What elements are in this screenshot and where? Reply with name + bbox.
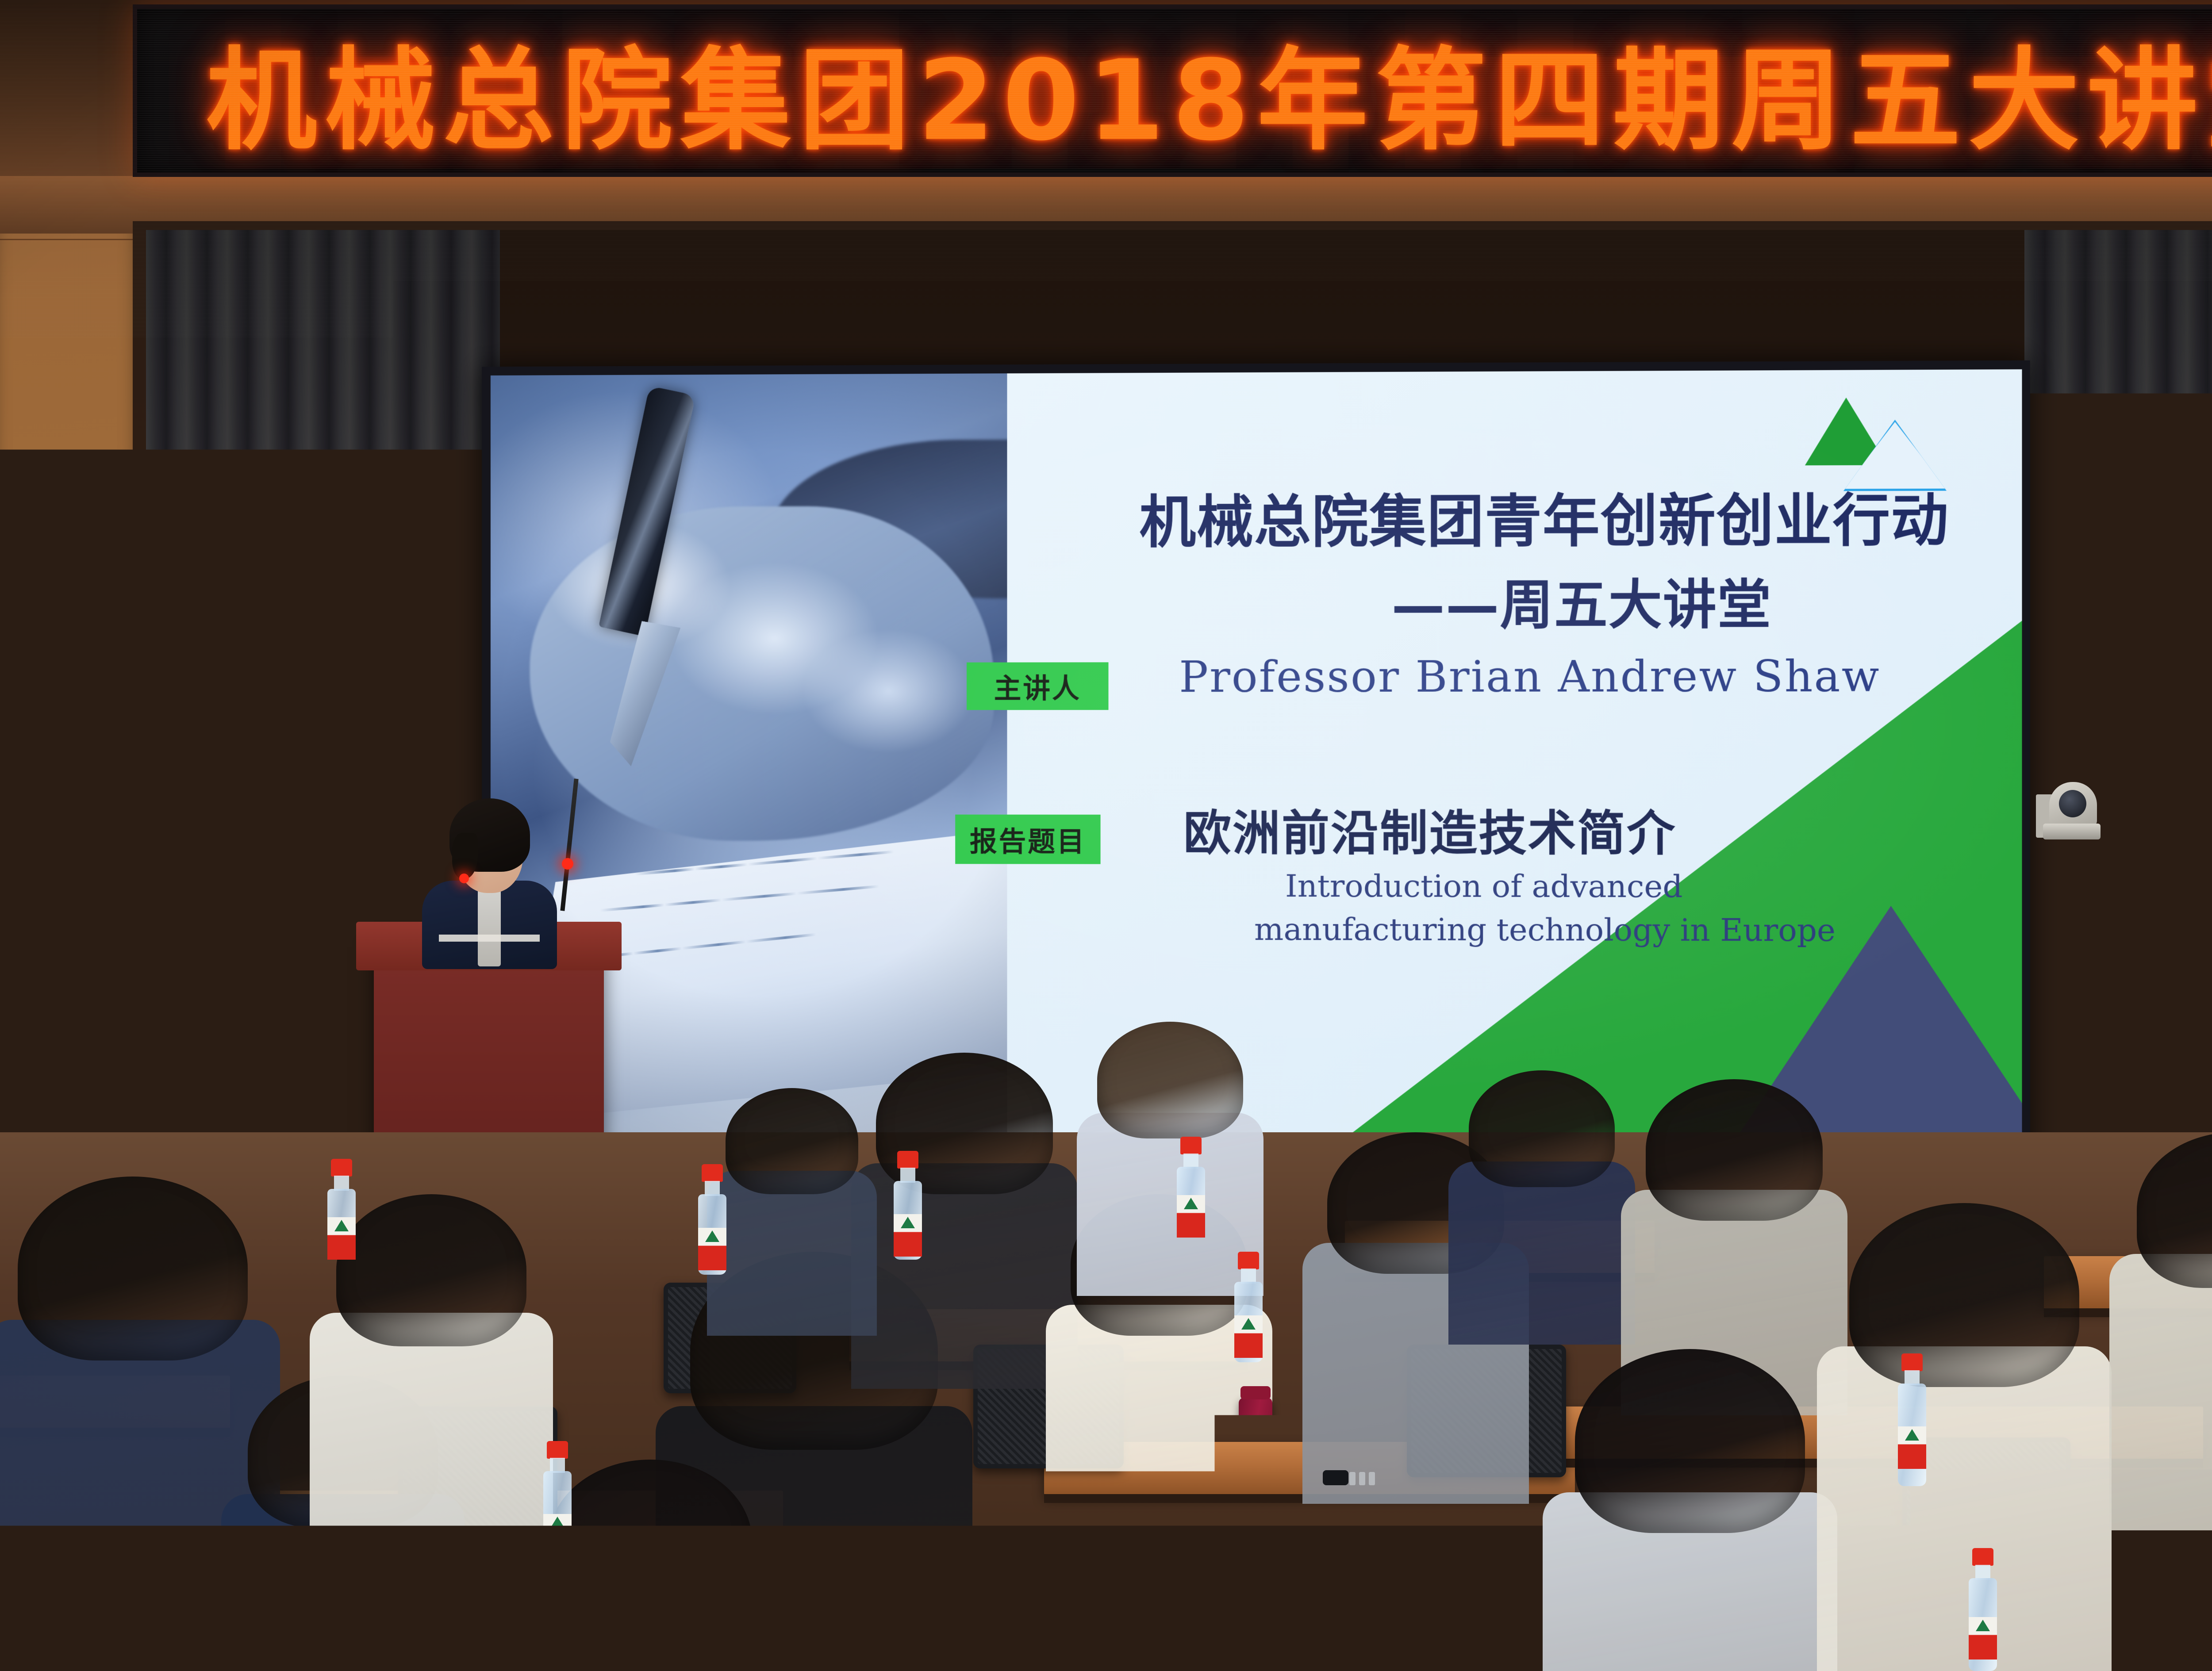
water-bottle bbox=[327, 1159, 356, 1256]
camera-lens-icon bbox=[2059, 790, 2086, 817]
microphone-led-icon bbox=[562, 858, 573, 870]
audience-member-torso bbox=[310, 1313, 553, 1592]
water-bottle bbox=[1234, 1252, 1263, 1362]
bottle-neck bbox=[1975, 1565, 1990, 1580]
badge-topic: 报告题目 bbox=[955, 815, 1100, 864]
bottle-cap bbox=[1972, 1548, 1993, 1566]
bottle-body bbox=[1177, 1167, 1205, 1234]
bottle-label bbox=[1619, 1329, 1647, 1371]
bottle-body bbox=[698, 1194, 726, 1275]
key-icon bbox=[1349, 1472, 1356, 1485]
topic-chinese: 欧洲前沿制造技术简介 bbox=[1183, 795, 1676, 864]
ptz-camera bbox=[2036, 779, 2107, 841]
bottle-label bbox=[1898, 1426, 1926, 1469]
bottle-neck bbox=[1183, 1154, 1198, 1169]
bottle-body bbox=[543, 1471, 572, 1574]
audience-member-torso bbox=[1448, 1161, 1635, 1345]
audience-member bbox=[1469, 1070, 1615, 1345]
audience-member-hair bbox=[2137, 1132, 2212, 1288]
water-bottle bbox=[1619, 1146, 1647, 1247]
bottle-neck bbox=[1241, 1269, 1256, 1284]
water-bottle bbox=[1619, 1265, 1647, 1376]
nongfu-spring-logo-icon bbox=[334, 1220, 349, 1231]
stage-curtain-right bbox=[2024, 230, 2212, 1203]
water-bottle bbox=[1898, 1353, 1926, 1486]
bottle-cap bbox=[897, 1151, 918, 1169]
audience-member-hair bbox=[1849, 1203, 2079, 1387]
nongfu-spring-logo-icon bbox=[705, 1230, 719, 1242]
speaker-name: Professor Brian Andrew Shaw bbox=[1179, 651, 1880, 702]
thermos-cap bbox=[1240, 1386, 1271, 1399]
bottle-cap bbox=[1238, 1252, 1259, 1269]
nongfu-spring-logo-icon bbox=[1626, 1331, 1640, 1343]
bottle-body bbox=[1619, 1176, 1647, 1247]
led-banner: 机械总院集团2018年第四期周五大讲堂 bbox=[133, 4, 2212, 177]
microphone-led-icon bbox=[459, 874, 469, 883]
audience-member-hair bbox=[726, 1088, 858, 1194]
key-icon bbox=[1369, 1472, 1375, 1485]
slide-title-line-2: ——周五大讲堂 bbox=[1391, 562, 1772, 640]
presenter bbox=[416, 794, 562, 953]
key-fob-icon bbox=[1323, 1470, 1348, 1485]
bottle-cap bbox=[1623, 1146, 1644, 1163]
audience-member bbox=[726, 1088, 858, 1336]
water-bottle bbox=[1657, 1145, 1686, 1246]
desk-keys bbox=[1323, 1468, 1376, 1487]
nongfu-spring-logo-icon bbox=[1905, 1429, 1919, 1441]
bottle-neck bbox=[1626, 1282, 1641, 1297]
bottle-neck bbox=[706, 1574, 721, 1589]
water-bottle bbox=[698, 1164, 726, 1275]
water-bottle bbox=[543, 1441, 572, 1574]
nongfu-spring-logo-icon bbox=[1626, 1208, 1640, 1220]
bottle-label bbox=[699, 1622, 727, 1665]
bottle-label bbox=[1177, 1195, 1205, 1238]
audience-member bbox=[336, 1194, 526, 1592]
water-bottle bbox=[1663, 1353, 1692, 1473]
bottle-body bbox=[894, 1181, 922, 1260]
water-bottle bbox=[699, 1557, 727, 1671]
nongfu-spring-logo-icon bbox=[1184, 1198, 1198, 1209]
thermos-flask bbox=[1239, 1398, 1272, 1522]
bottle-label bbox=[327, 1217, 356, 1260]
bottle-label bbox=[1969, 1617, 1997, 1660]
bottle-neck bbox=[1905, 1370, 1920, 1385]
bottle-neck bbox=[900, 1168, 915, 1183]
bottle-cap bbox=[1623, 1265, 1644, 1283]
bottle-neck bbox=[1670, 1370, 1685, 1385]
bottle-label bbox=[1663, 1421, 1692, 1464]
bottle-body bbox=[699, 1587, 727, 1671]
bottle-label bbox=[894, 1214, 922, 1257]
bottle-body bbox=[1657, 1175, 1686, 1246]
presenter-jacket-trim bbox=[439, 935, 540, 942]
audience-member-hair bbox=[1097, 1022, 1243, 1138]
nongfu-spring-logo-icon bbox=[1241, 1318, 1256, 1330]
bottle-body bbox=[1663, 1384, 1692, 1473]
bottle-label bbox=[1657, 1205, 1686, 1247]
audience-member-hair bbox=[1469, 1070, 1615, 1187]
bottle-cap bbox=[703, 1557, 724, 1575]
badge-speaker: 主讲人 bbox=[967, 662, 1109, 710]
bottle-body bbox=[327, 1189, 356, 1256]
bottle-body bbox=[1969, 1578, 1997, 1671]
projected-slide: 机械总院集团青年创新创业行动 ——周五大讲堂 主讲人 Professor Bri… bbox=[491, 369, 2022, 1156]
presenter-hair bbox=[449, 798, 530, 872]
nongfu-spring-logo-icon bbox=[901, 1217, 915, 1228]
bottle-body bbox=[1898, 1384, 1926, 1486]
bottle-cap bbox=[331, 1159, 352, 1177]
audience-member bbox=[18, 1177, 248, 1671]
camera-base bbox=[2043, 824, 2101, 839]
bottle-neck bbox=[1626, 1162, 1641, 1177]
bottle-cap bbox=[1661, 1145, 1682, 1162]
desk-paper bbox=[348, 1607, 435, 1662]
bottle-cap bbox=[1667, 1353, 1688, 1371]
water-bottle bbox=[894, 1151, 922, 1260]
water-bottle bbox=[1177, 1137, 1205, 1234]
nongfu-spring-logo-icon bbox=[1664, 1207, 1678, 1219]
water-bottle bbox=[1969, 1548, 1997, 1671]
audience-member bbox=[1849, 1203, 2079, 1671]
bottle-neck bbox=[705, 1181, 720, 1196]
projection-screen: 机械总院集团青年创新创业行动 ——周五大讲堂 主讲人 Professor Bri… bbox=[482, 360, 2030, 1163]
audience-member bbox=[2137, 1132, 2212, 1530]
bottle-cap bbox=[1180, 1137, 1202, 1154]
topic-english-line-1: Introduction of advanced bbox=[1285, 868, 1682, 904]
audience-member-torso bbox=[851, 1163, 1078, 1389]
audience-member-torso bbox=[707, 1171, 877, 1336]
topic-english-line-2: manufacturing technology in Europe bbox=[1254, 911, 1836, 949]
bottle-cap bbox=[702, 1164, 723, 1182]
nongfu-spring-logo-icon bbox=[550, 1517, 565, 1528]
audience-member-torso bbox=[2109, 1254, 2212, 1530]
slide-title-line-1: 机械总院集团青年创新创业行动 bbox=[1139, 474, 1949, 558]
bottle-label bbox=[1234, 1315, 1263, 1358]
audience-member-torso bbox=[1817, 1346, 2112, 1671]
bottle-body bbox=[1619, 1295, 1647, 1376]
nongfu-spring-logo-icon bbox=[706, 1625, 720, 1637]
key-icon bbox=[1359, 1472, 1365, 1485]
bottle-cap bbox=[1901, 1353, 1923, 1371]
audience-member-hair bbox=[18, 1177, 248, 1361]
bottle-neck bbox=[334, 1176, 349, 1191]
audience-member bbox=[1097, 1022, 1243, 1296]
bottle-neck bbox=[1664, 1161, 1679, 1177]
nongfu-spring-logo-icon bbox=[1976, 1620, 1990, 1631]
bottle-cap bbox=[547, 1441, 568, 1459]
lecture-hall-photo: 机械总院集团2018年第四期周五大讲堂 bbox=[0, 0, 2212, 1671]
nongfu-spring-logo-icon bbox=[1671, 1424, 1685, 1435]
presenter-jacket-trim bbox=[478, 887, 501, 966]
audience-member-hair bbox=[336, 1194, 526, 1346]
led-banner-text: 机械总院集团2018年第四期周五大讲堂 bbox=[137, 11, 2212, 171]
bottle-neck bbox=[550, 1458, 565, 1473]
bottle-label bbox=[1619, 1206, 1647, 1248]
bottle-body bbox=[1234, 1282, 1263, 1362]
bottle-label bbox=[698, 1228, 726, 1270]
bottle-label bbox=[543, 1514, 572, 1556]
